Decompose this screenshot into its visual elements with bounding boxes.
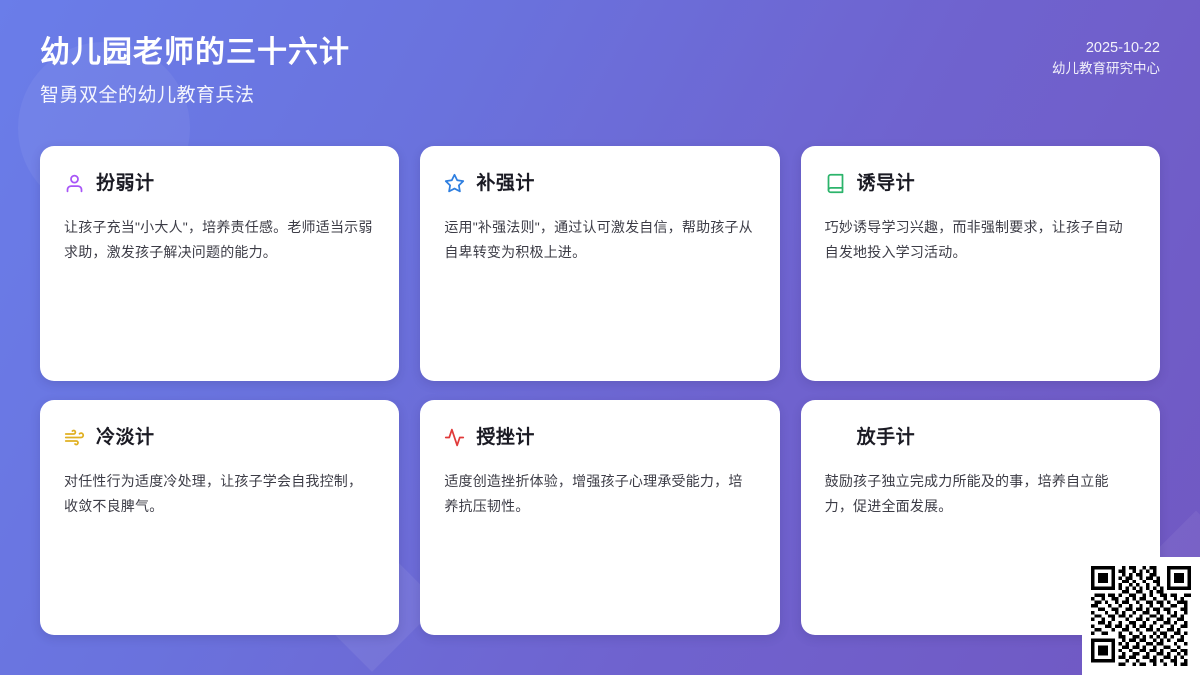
star-icon bbox=[444, 173, 465, 194]
qr-code-image bbox=[1091, 566, 1191, 666]
strategy-card[interactable]: 授挫计 适度创造挫折体验，增强孩子心理承受能力，培养抗压韧性。 bbox=[420, 400, 779, 635]
card-description: 对任性行为适度冷处理，让孩子学会自我控制，收敛不良脾气。 bbox=[64, 469, 375, 519]
header-date: 2025-10-22 bbox=[1052, 38, 1160, 59]
activity-icon bbox=[444, 427, 465, 448]
slide-header: 幼儿园老师的三十六计 智勇双全的幼儿教育兵法 2025-10-22 幼儿教育研究… bbox=[0, 0, 1200, 128]
header-title-group: 幼儿园老师的三十六计 智勇双全的幼儿教育兵法 bbox=[40, 0, 350, 108]
strategy-card[interactable]: 补强计 运用"补强法则"，通过认可激发自信，帮助孩子从自卑转变为积极上进。 bbox=[420, 146, 779, 381]
slide-root: 幼儿园老师的三十六计 智勇双全的幼儿教育兵法 2025-10-22 幼儿教育研究… bbox=[0, 0, 1200, 675]
card-header: 放手计 bbox=[825, 422, 1136, 452]
card-title: 授挫计 bbox=[476, 428, 535, 447]
wind-icon bbox=[64, 427, 85, 448]
card-header: 补强计 bbox=[444, 168, 755, 198]
strategy-card[interactable]: 冷淡计 对任性行为适度冷处理，让孩子学会自我控制，收敛不良脾气。 bbox=[40, 400, 399, 635]
strategy-card[interactable]: 扮弱计 让孩子充当"小大人"，培养责任感。老师适当示弱求助，激发孩子解决问题的能… bbox=[40, 146, 399, 381]
card-description: 适度创造挫折体验，增强孩子心理承受能力，培养抗压韧性。 bbox=[444, 469, 755, 519]
qr-code[interactable] bbox=[1082, 557, 1200, 675]
book-icon bbox=[825, 173, 846, 194]
card-title: 诱导计 bbox=[857, 174, 916, 193]
card-header: 冷淡计 bbox=[64, 422, 375, 452]
missing-icon-placeholder bbox=[825, 427, 846, 448]
strategy-card-grid: 扮弱计 让孩子充当"小大人"，培养责任感。老师适当示弱求助，激发孩子解决问题的能… bbox=[40, 146, 1160, 635]
header-meta-group: 2025-10-22 幼儿教育研究中心 bbox=[1052, 0, 1160, 79]
card-description: 运用"补强法则"，通过认可激发自信，帮助孩子从自卑转变为积极上进。 bbox=[444, 215, 755, 265]
card-title: 补强计 bbox=[476, 174, 535, 193]
card-description: 巧妙诱导学习兴趣，而非强制要求，让孩子自动自发地投入学习活动。 bbox=[825, 215, 1136, 265]
strategy-card[interactable]: 诱导计 巧妙诱导学习兴趣，而非强制要求，让孩子自动自发地投入学习活动。 bbox=[801, 146, 1160, 381]
card-title: 冷淡计 bbox=[96, 428, 155, 447]
header-organization: 幼儿教育研究中心 bbox=[1052, 59, 1160, 79]
page-subtitle: 智勇双全的幼儿教育兵法 bbox=[40, 84, 350, 109]
card-description: 让孩子充当"小大人"，培养责任感。老师适当示弱求助，激发孩子解决问题的能力。 bbox=[64, 215, 375, 265]
user-icon bbox=[64, 173, 85, 194]
card-title: 放手计 bbox=[857, 428, 916, 447]
card-description: 鼓励孩子独立完成力所能及的事，培养自立能力，促进全面发展。 bbox=[825, 469, 1136, 519]
card-header: 诱导计 bbox=[825, 168, 1136, 198]
card-title: 扮弱计 bbox=[96, 174, 155, 193]
card-header: 扮弱计 bbox=[64, 168, 375, 198]
page-title: 幼儿园老师的三十六计 bbox=[40, 34, 350, 72]
card-header: 授挫计 bbox=[444, 422, 755, 452]
